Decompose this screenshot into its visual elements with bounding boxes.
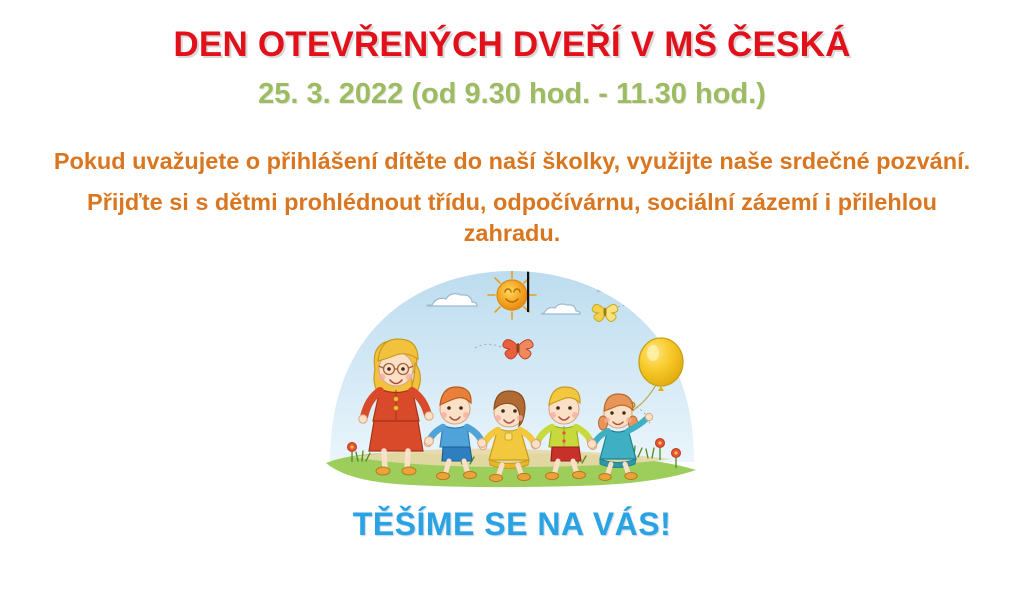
text-cursor-artifact (527, 270, 529, 312)
cloud-icon (597, 281, 636, 291)
illustration-children-and-teacher (312, 257, 712, 502)
body-text-block: Pokud uvažujete o přihlášení dítěte do n… (47, 146, 977, 249)
closing-message: TĚŠÍME SE NA VÁS! (353, 506, 671, 543)
event-date-time: 25. 3. 2022 (od 9.30 hod. - 11.30 hod.) (258, 79, 766, 111)
invitation-paragraph-2: Přijďte si s dětmi prohlédnout třídu, od… (47, 187, 977, 249)
page-title: DEN OTEVŘENÝCH DVEŘÍ V MŠ ČESKÁ (173, 26, 850, 65)
illustration-svg (312, 257, 712, 502)
poster-canvas: DEN OTEVŘENÝCH DVEŘÍ V MŠ ČESKÁ 25. 3. 2… (0, 0, 1024, 605)
invitation-paragraph-1: Pokud uvažujete o přihlášení dítěte do n… (47, 146, 977, 177)
